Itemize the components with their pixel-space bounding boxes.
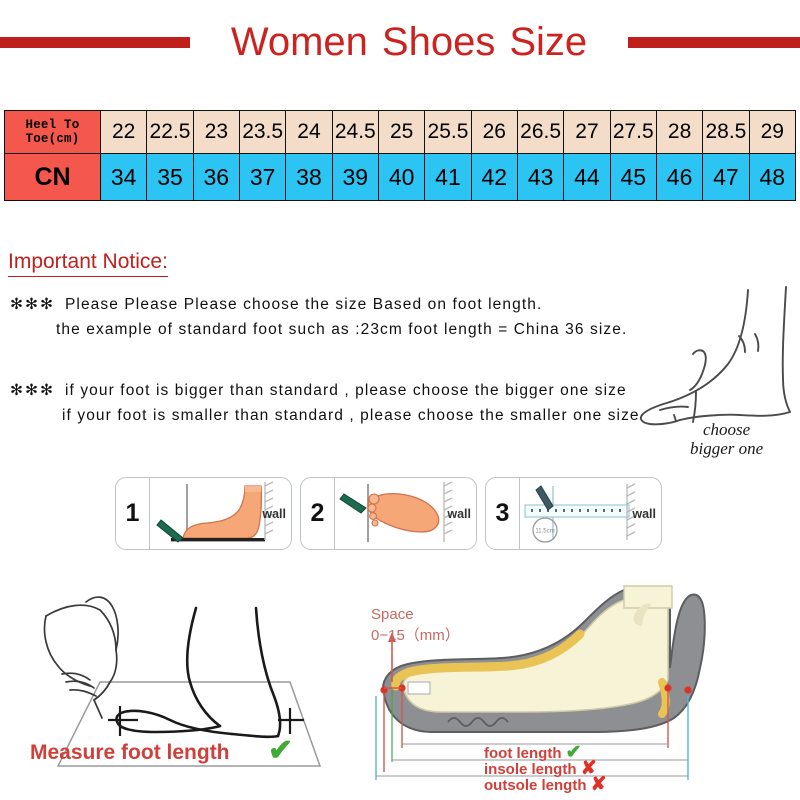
- cell-cn: 40: [378, 154, 424, 201]
- cell-cn: 45: [610, 154, 656, 201]
- space-label-line-2: 0−15（mm）: [371, 625, 460, 646]
- cell-cm: 24.5: [332, 111, 378, 154]
- annotation-line-2: bigger one: [690, 439, 763, 458]
- step-number-badge: 3: [486, 478, 520, 549]
- cell-cm: 27: [564, 111, 610, 154]
- annotation-line-1: choose: [690, 420, 763, 439]
- notice-line: if your foot is smaller than standard , …: [10, 403, 640, 428]
- important-notice-heading: Important Notice:: [8, 250, 168, 277]
- wall-label: wall: [632, 507, 656, 521]
- title-word-shoes: Shoes: [375, 20, 502, 64]
- cell-cm: 28: [656, 111, 702, 154]
- cell-cn: 38: [286, 154, 332, 201]
- cell-cn: 42: [471, 154, 517, 201]
- foot-side-view-illustration: [636, 282, 800, 442]
- check-icon: ✔: [268, 733, 293, 768]
- cell-cm: 26.5: [517, 111, 563, 154]
- cell-cm: 25.5: [425, 111, 471, 154]
- row-header-cn: CN: [5, 154, 101, 201]
- notice-text: Please Please Please choose the size Bas…: [65, 296, 542, 313]
- cell-cn: 41: [425, 154, 471, 201]
- space-annotation: Space 0−15（mm）: [371, 604, 460, 646]
- notice-stars: ✻✻✻: [10, 296, 55, 313]
- title-rule-left: [0, 37, 190, 48]
- title-word-size: Size: [502, 20, 594, 64]
- cell-cm: 23.5: [239, 111, 285, 154]
- space-label-line-1: Space: [371, 604, 460, 625]
- table-row-heel-to-toe: Heel To Toe(cm) 22 22.5 23 23.5 24 24.5 …: [5, 111, 796, 154]
- step-number-badge: 1: [116, 478, 150, 549]
- measure-step-panel-3: 3 11.5cm wall: [485, 477, 662, 550]
- cell-cm: 25: [378, 111, 424, 154]
- cell-cn: 35: [147, 154, 193, 201]
- cell-cn: 43: [517, 154, 563, 201]
- step-number-badge: 2: [301, 478, 335, 549]
- wall-label: wall: [262, 507, 286, 521]
- cell-cn: 47: [703, 154, 749, 201]
- cell-cm: 24: [286, 111, 332, 154]
- measure-step-panel-1: 1 wall: [115, 477, 292, 550]
- cell-cm: 23: [193, 111, 239, 154]
- table-row-cn: CN 34 35 36 37 38 39 40 41 42 43 44 45 4…: [5, 154, 796, 201]
- cross-icon: ✘: [591, 774, 607, 795]
- notice-block-2: ✻✻✻if your foot is bigger than standard …: [10, 378, 640, 428]
- cell-cm: 26: [471, 111, 517, 154]
- title-rule-right: [628, 37, 800, 48]
- cell-cn: 48: [749, 154, 795, 201]
- outsole-length-label: outsole length: [484, 777, 587, 794]
- measure-step-panel-2: 2 wall: [300, 477, 477, 550]
- cell-cm: 29: [749, 111, 795, 154]
- notice-line: ✻✻✻if your foot is bigger than standard …: [10, 378, 640, 403]
- title-word-women: Women: [224, 20, 375, 64]
- page-title-bar: WomenShoesSize: [0, 14, 800, 70]
- notice-stars: ✻✻✻: [10, 382, 55, 399]
- notice-line: the example of standard foot such as :23…: [10, 317, 627, 342]
- cell-cm: 27.5: [610, 111, 656, 154]
- cell-cm: 22.5: [147, 111, 193, 154]
- row-header-heel-to-toe: Heel To Toe(cm): [5, 111, 101, 154]
- measure-foot-length-caption: Measure foot length: [30, 741, 230, 765]
- cell-cn: 44: [564, 154, 610, 201]
- ruler-badge-text: 11.5cm: [535, 529, 554, 535]
- cell-cn: 39: [332, 154, 378, 201]
- page-title: WomenShoesSize: [190, 19, 628, 65]
- cell-cn: 34: [101, 154, 147, 201]
- cell-cn: 36: [193, 154, 239, 201]
- notice-block-1: ✻✻✻Please Please Please choose the size …: [10, 292, 627, 342]
- choose-bigger-one-annotation: choose bigger one: [690, 420, 763, 458]
- notice-text: if your foot is bigger than standard , p…: [65, 382, 627, 399]
- outsole-length-measure-row: outsole length ✘: [484, 773, 607, 796]
- wall-label: wall: [447, 507, 471, 521]
- size-conversion-table: Heel To Toe(cm) 22 22.5 23 23.5 24 24.5 …: [4, 110, 796, 201]
- cell-cm: 28.5: [703, 111, 749, 154]
- notice-line: ✻✻✻Please Please Please choose the size …: [10, 292, 627, 317]
- cell-cn: 37: [239, 154, 285, 201]
- cell-cn: 46: [656, 154, 702, 201]
- cell-cm: 22: [101, 111, 147, 154]
